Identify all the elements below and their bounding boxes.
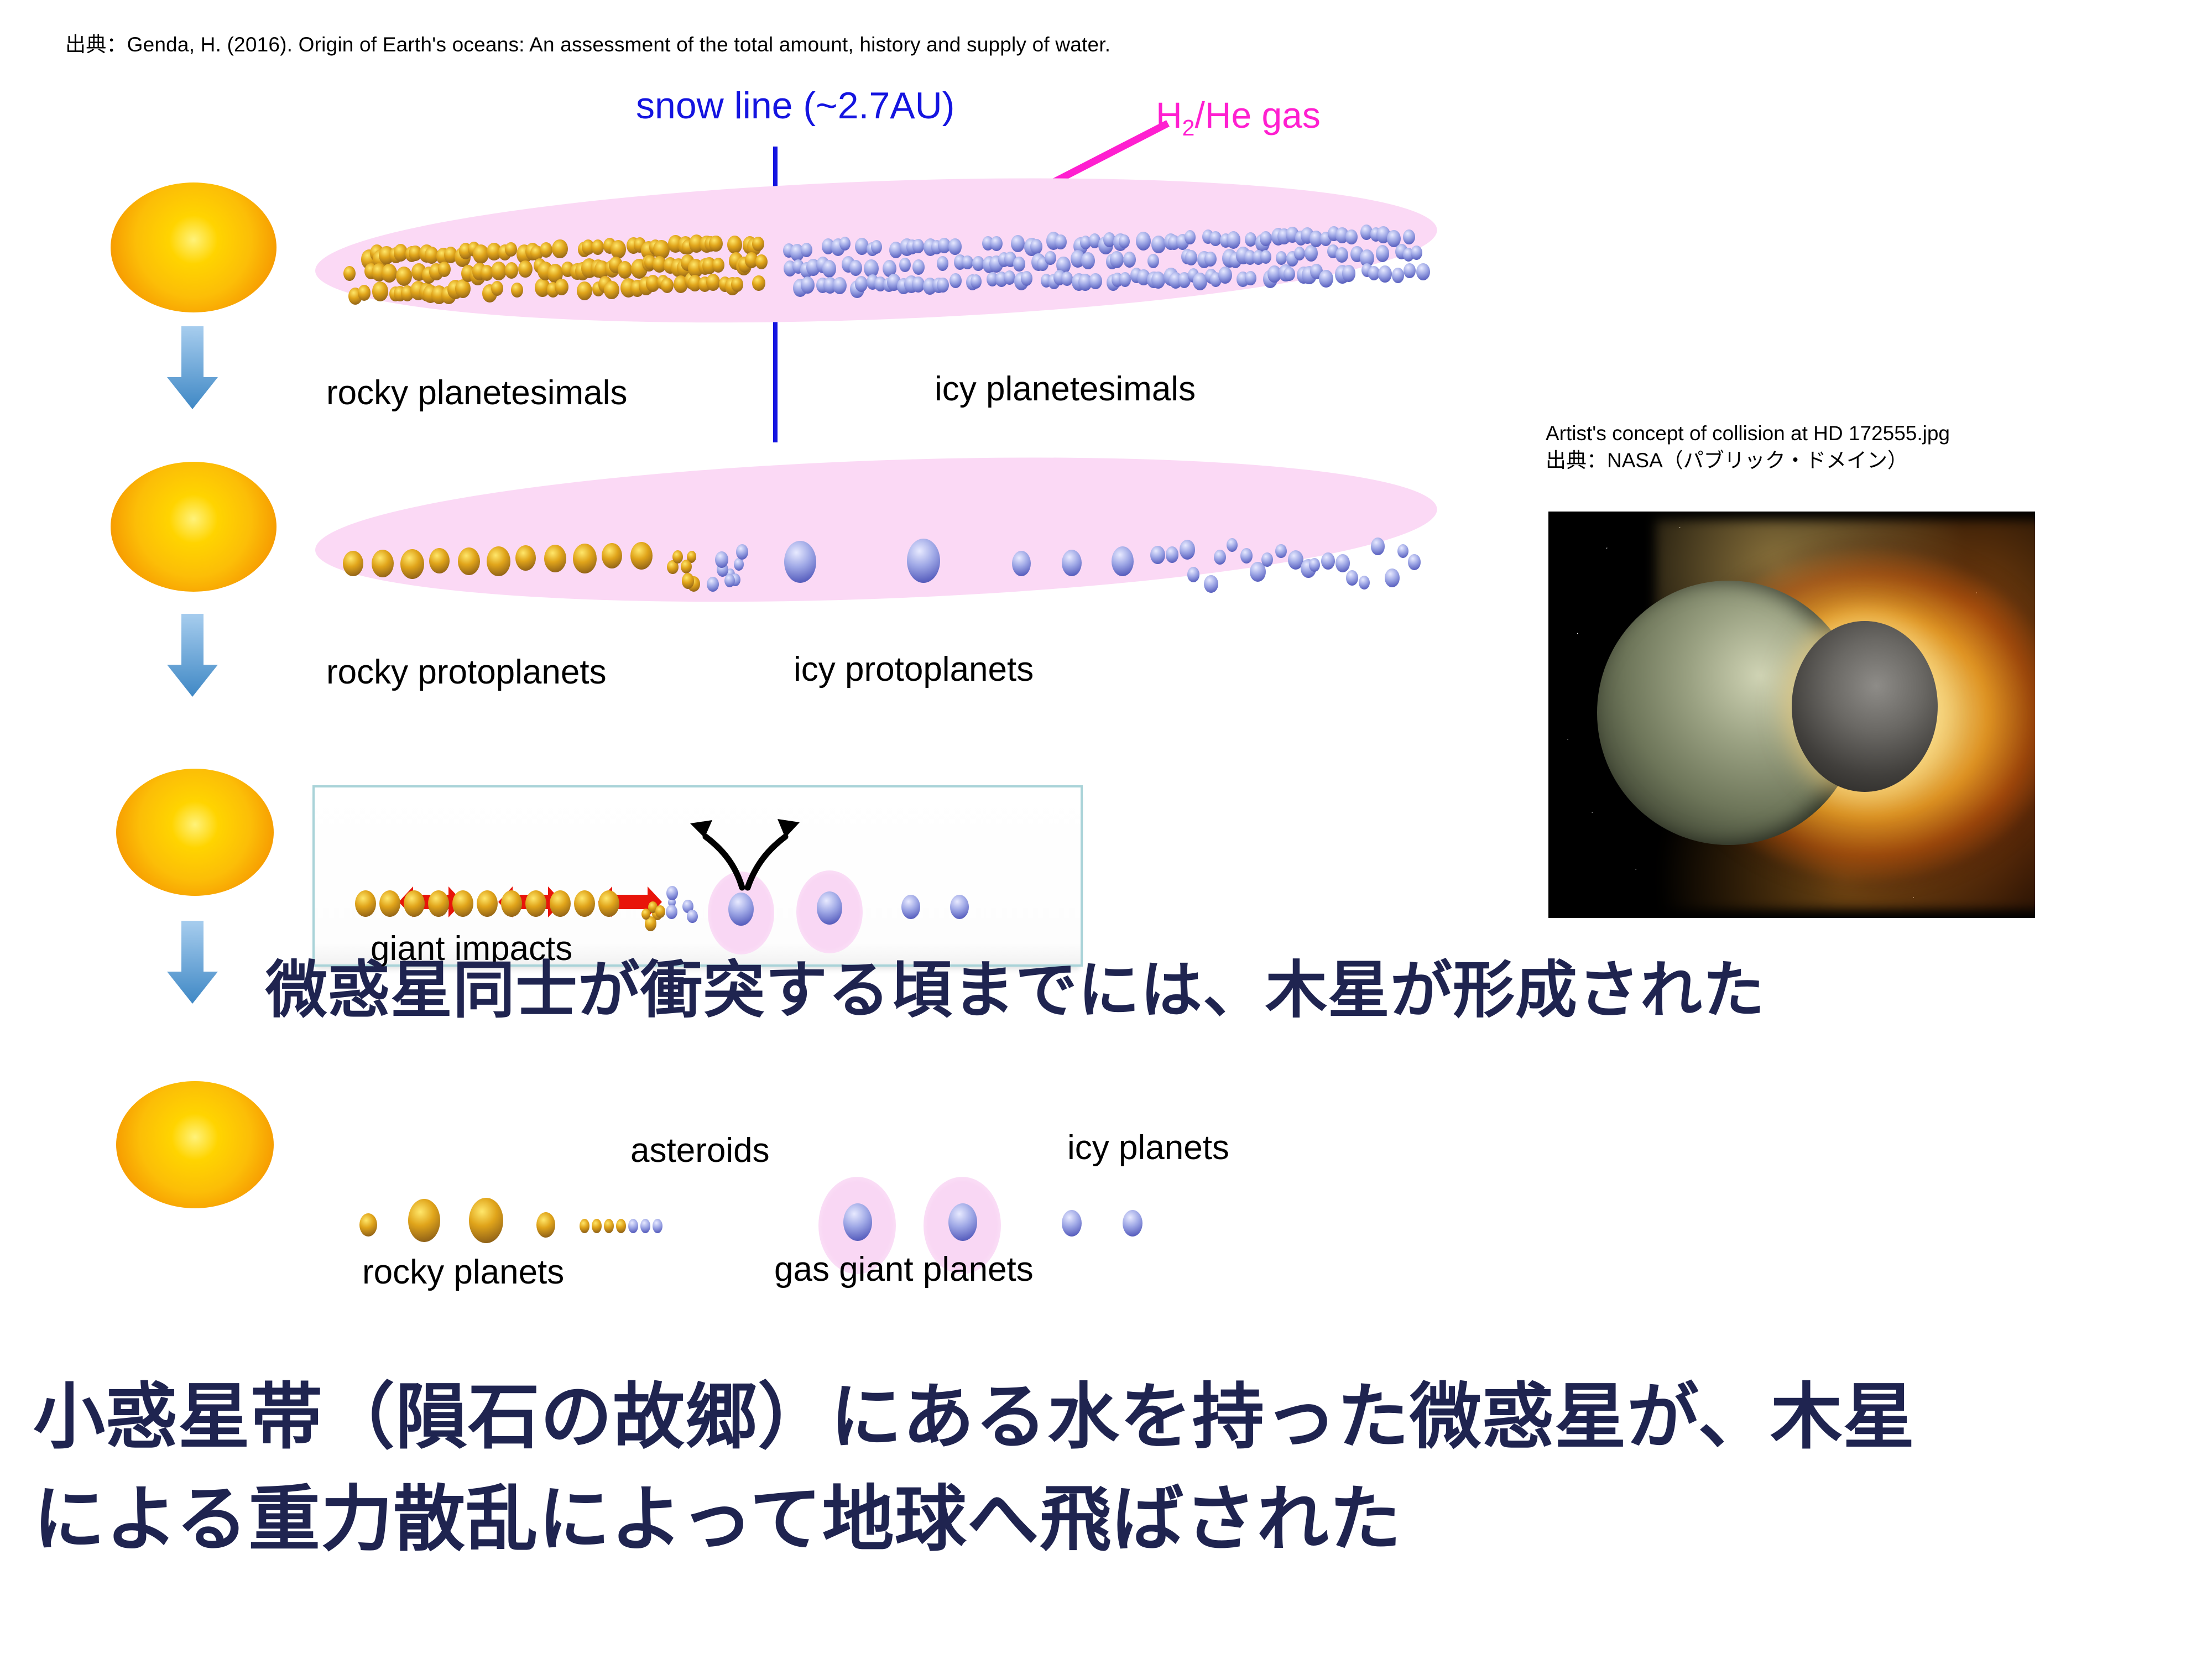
- icy-body: [1030, 239, 1043, 254]
- icy-body: [839, 237, 851, 251]
- icy-body: [1150, 546, 1165, 564]
- nasa-caption-line-1: Artist's concept of collision at HD 1725…: [1546, 420, 1950, 447]
- rocky-body: [661, 278, 674, 293]
- icy-body: [640, 1219, 650, 1233]
- icy-body: [666, 905, 677, 919]
- rocky-body: [355, 890, 376, 917]
- rocky-body: [518, 260, 533, 278]
- rocky-body: [727, 236, 742, 254]
- icy-body: [1151, 236, 1166, 254]
- rocky-body: [343, 551, 363, 576]
- icy-body: [687, 910, 698, 924]
- planetesimal-belt-row-1: [321, 216, 1432, 326]
- rocky-body: [438, 262, 451, 277]
- icy-body: [734, 558, 744, 571]
- rocky-body: [598, 890, 619, 917]
- rocky-body: [709, 236, 722, 252]
- row-4-asteroids-label: asteroids: [630, 1131, 770, 1170]
- icy-body: [833, 277, 847, 294]
- snow-line-label: snow line (~2.7AU): [636, 84, 954, 127]
- icy-body: [1404, 263, 1415, 278]
- icy-body: [1378, 265, 1392, 283]
- icy-body: [1284, 267, 1295, 281]
- nasa-image-caption: Artist's concept of collision at HD 1725…: [1546, 420, 1950, 474]
- icy-body: [1119, 272, 1131, 287]
- rocky-body: [611, 240, 626, 259]
- rocky-body: [400, 549, 424, 579]
- icy-body: [1011, 235, 1025, 252]
- icy-body: [728, 893, 754, 926]
- rocky-body: [505, 262, 519, 279]
- gas-leader-line-icon: [1045, 119, 1172, 188]
- rocky-body: [536, 1212, 555, 1238]
- rocky-body: [687, 551, 697, 562]
- rocky-body: [604, 1219, 614, 1233]
- icy-body: [666, 886, 678, 900]
- rocky-body: [358, 285, 371, 301]
- icy-body: [1261, 552, 1273, 567]
- rocky-body: [379, 890, 400, 917]
- rocky-body: [505, 242, 517, 257]
- rocky-body: [592, 239, 604, 255]
- icy-body: [912, 239, 924, 253]
- icy-body: [1062, 550, 1082, 576]
- icy-body: [736, 544, 749, 560]
- icy-body: [899, 258, 911, 272]
- icy-body: [1166, 546, 1179, 563]
- icy-body: [937, 278, 949, 293]
- icy-body: [855, 276, 868, 292]
- icy-body: [1218, 267, 1232, 284]
- row-2-left-label: rocky protoplanets: [326, 653, 607, 692]
- icy-body: [1411, 246, 1422, 260]
- rocky-body: [616, 1219, 626, 1233]
- icy-body: [907, 539, 940, 583]
- rocky-body: [408, 1199, 440, 1242]
- icy-body: [1110, 251, 1123, 268]
- icy-body: [1214, 550, 1226, 565]
- row-2-right-label: icy protoplanets: [794, 650, 1034, 689]
- mid-headline: 微惑星同士が衝突する頃までには、木星が形成された: [265, 940, 1765, 1030]
- icy-body: [971, 274, 982, 289]
- icy-body: [871, 240, 882, 254]
- rocky-body: [429, 548, 450, 573]
- rocky-body: [515, 545, 536, 571]
- rocky-body: [491, 281, 504, 296]
- icy-body: [1112, 546, 1134, 576]
- icy-body: [1345, 229, 1357, 244]
- icy-body: [653, 1219, 662, 1233]
- icy-body: [843, 1203, 872, 1241]
- row-1-right-label: icy planetesimals: [935, 369, 1196, 409]
- icy-body: [1276, 251, 1287, 265]
- icy-body: [1185, 230, 1196, 244]
- rocky-body: [404, 890, 425, 917]
- icy-body: [784, 541, 816, 583]
- sun-stage-1: [111, 182, 276, 312]
- step-arrow-1-icon: [166, 326, 219, 409]
- rocky-body: [712, 258, 724, 273]
- icy-body: [1204, 575, 1218, 593]
- rocky-body: [630, 542, 653, 570]
- icy-body: [1147, 254, 1159, 268]
- icy-body: [1408, 554, 1421, 570]
- icy-body: [1227, 231, 1240, 248]
- icy-body: [1376, 245, 1389, 262]
- row-4-rocky-planets-label: rocky planets: [362, 1253, 564, 1292]
- rocky-body: [682, 573, 695, 588]
- icy-body: [950, 273, 962, 288]
- icy-body: [1385, 568, 1400, 587]
- icy-body: [1180, 540, 1196, 560]
- icy-body: [1416, 263, 1430, 280]
- rocky-body: [752, 275, 765, 291]
- source-credit: 出典：Genda, H. (2016). Origin of Earth's o…: [65, 28, 1110, 58]
- icy-body: [1359, 576, 1370, 589]
- icy-body: [1260, 231, 1272, 246]
- rocky-body: [372, 281, 388, 301]
- rocky-body: [655, 905, 665, 918]
- icy-body: [1062, 1210, 1082, 1237]
- icy-body: [849, 260, 862, 276]
- row-4-gas-giants-label: gas giant planets: [774, 1250, 1034, 1289]
- protoplanet-belt-row-2: [332, 520, 1432, 608]
- icy-body: [901, 895, 920, 919]
- icy-body: [822, 260, 837, 278]
- rocky-body: [602, 543, 622, 568]
- rocky-body: [473, 244, 489, 264]
- icy-body: [817, 891, 842, 925]
- rocky-body: [458, 547, 480, 575]
- step-arrow-2-icon: [166, 614, 219, 697]
- rocky-body: [359, 1213, 377, 1237]
- nasa-caption-line-2: 出典：NASA（パブリック・ドメイン）: [1546, 447, 1950, 474]
- row-1-left-label: rocky planetesimals: [326, 373, 627, 413]
- rocky-body: [573, 544, 597, 573]
- planet-formation-diagram: snow line (~2.7AU) H2/He gas rocky plane…: [0, 61, 1493, 1305]
- icy-body: [1227, 538, 1238, 552]
- icy-body: [1321, 552, 1335, 570]
- icy-body: [707, 577, 719, 592]
- icy-body: [1045, 251, 1056, 265]
- rocky-body: [592, 1219, 602, 1233]
- icy-body: [1346, 570, 1358, 585]
- icy-body: [801, 276, 815, 294]
- bottom-line-2: による重力散乱によって地球へ飛ばされた: [33, 1468, 1915, 1571]
- step-arrow-3-icon: [166, 921, 219, 1004]
- icy-body: [1136, 232, 1151, 251]
- icy-body: [962, 255, 973, 270]
- rocky-body: [540, 242, 552, 258]
- icy-body: [950, 895, 969, 919]
- sun-stage-4: [116, 1081, 274, 1208]
- impactor-planet: [1792, 621, 1938, 792]
- sun-stage-2: [111, 462, 276, 592]
- icy-body: [1342, 265, 1355, 281]
- rocky-body: [487, 546, 510, 576]
- rocky-body: [455, 279, 471, 298]
- row-4-icy-planets-label: icy planets: [1067, 1128, 1229, 1167]
- icy-body: [1081, 252, 1095, 269]
- icy-body: [1245, 232, 1256, 247]
- rocky-body: [641, 909, 650, 920]
- icy-body: [1319, 270, 1333, 288]
- icy-body: [1185, 250, 1197, 265]
- icy-body: [1397, 544, 1408, 558]
- gas-label-sub: 2: [1182, 115, 1195, 140]
- icy-body: [1260, 250, 1271, 264]
- icy-body: [1004, 270, 1015, 285]
- icy-body: [937, 256, 949, 271]
- icy-body: [1021, 271, 1032, 286]
- icy-body: [1305, 245, 1318, 262]
- icy-body: [715, 551, 728, 568]
- rocky-body: [574, 890, 595, 917]
- rocky-body: [552, 239, 568, 259]
- icy-body: [948, 1203, 977, 1241]
- rocky-body: [706, 274, 720, 290]
- rocky-body: [550, 890, 571, 917]
- rocky-body: [604, 281, 619, 299]
- icy-body: [1403, 229, 1415, 244]
- rocky-body: [525, 890, 546, 917]
- icy-body: [1204, 252, 1217, 267]
- rocky-body: [469, 1198, 503, 1243]
- icy-body: [1309, 558, 1320, 572]
- icy-body: [1371, 538, 1385, 555]
- icy-body: [1123, 1210, 1142, 1237]
- icy-body: [1275, 544, 1286, 559]
- icy-body: [724, 574, 735, 587]
- rocky-body: [755, 254, 768, 269]
- bottom-conclusion-text: 小惑星帯（隕石の故郷）にある水を持った微惑星が、木星 による重力散乱によって地球…: [33, 1366, 1915, 1570]
- icy-body: [1245, 271, 1256, 285]
- icy-body: [912, 259, 925, 275]
- nasa-collision-artwork: [1548, 512, 2035, 918]
- icy-body: [801, 243, 812, 257]
- rocky-body: [580, 1219, 589, 1233]
- rocky-body: [491, 262, 507, 280]
- icy-body: [948, 238, 962, 254]
- icy-body: [1187, 567, 1199, 582]
- rocky-body: [452, 890, 473, 917]
- h2-he-gas-label: H2/He gas: [1156, 94, 1321, 141]
- icy-body: [628, 1219, 638, 1233]
- rocky-body: [343, 266, 356, 281]
- rocky-body: [477, 890, 498, 917]
- rocky-body: [511, 283, 523, 298]
- icy-body: [1119, 234, 1130, 248]
- icy-body: [1055, 234, 1067, 249]
- icy-body: [990, 236, 1003, 251]
- icy-body: [1335, 247, 1348, 263]
- gas-label-rest: /He gas: [1194, 95, 1320, 135]
- rocky-body: [672, 550, 683, 564]
- bottom-line-1: 小惑星帯（隕石の故郷）にある水を持った微惑星が、木星: [33, 1366, 1915, 1468]
- icy-body: [1013, 257, 1025, 272]
- rocky-body: [501, 890, 522, 917]
- rocky-body: [752, 237, 764, 251]
- icy-body: [1123, 252, 1136, 268]
- rocky-body: [577, 281, 592, 300]
- sun-stage-3: [116, 769, 274, 896]
- icy-body: [1240, 548, 1253, 564]
- scatter-arrows-icon: [680, 805, 807, 893]
- rocky-body: [544, 545, 566, 572]
- icy-body: [1335, 554, 1350, 572]
- icy-body: [1294, 247, 1306, 261]
- rocky-body: [731, 277, 743, 292]
- rocky-body: [396, 267, 412, 286]
- rocky-body: [428, 890, 449, 917]
- icy-body: [1061, 272, 1073, 286]
- icy-body: [1012, 551, 1031, 576]
- rocky-body: [382, 264, 397, 283]
- rocky-body: [372, 550, 394, 577]
- icy-body: [1089, 273, 1102, 290]
- rocky-body: [555, 279, 568, 295]
- rocky-body: [618, 261, 632, 279]
- icy-body: [1392, 268, 1404, 283]
